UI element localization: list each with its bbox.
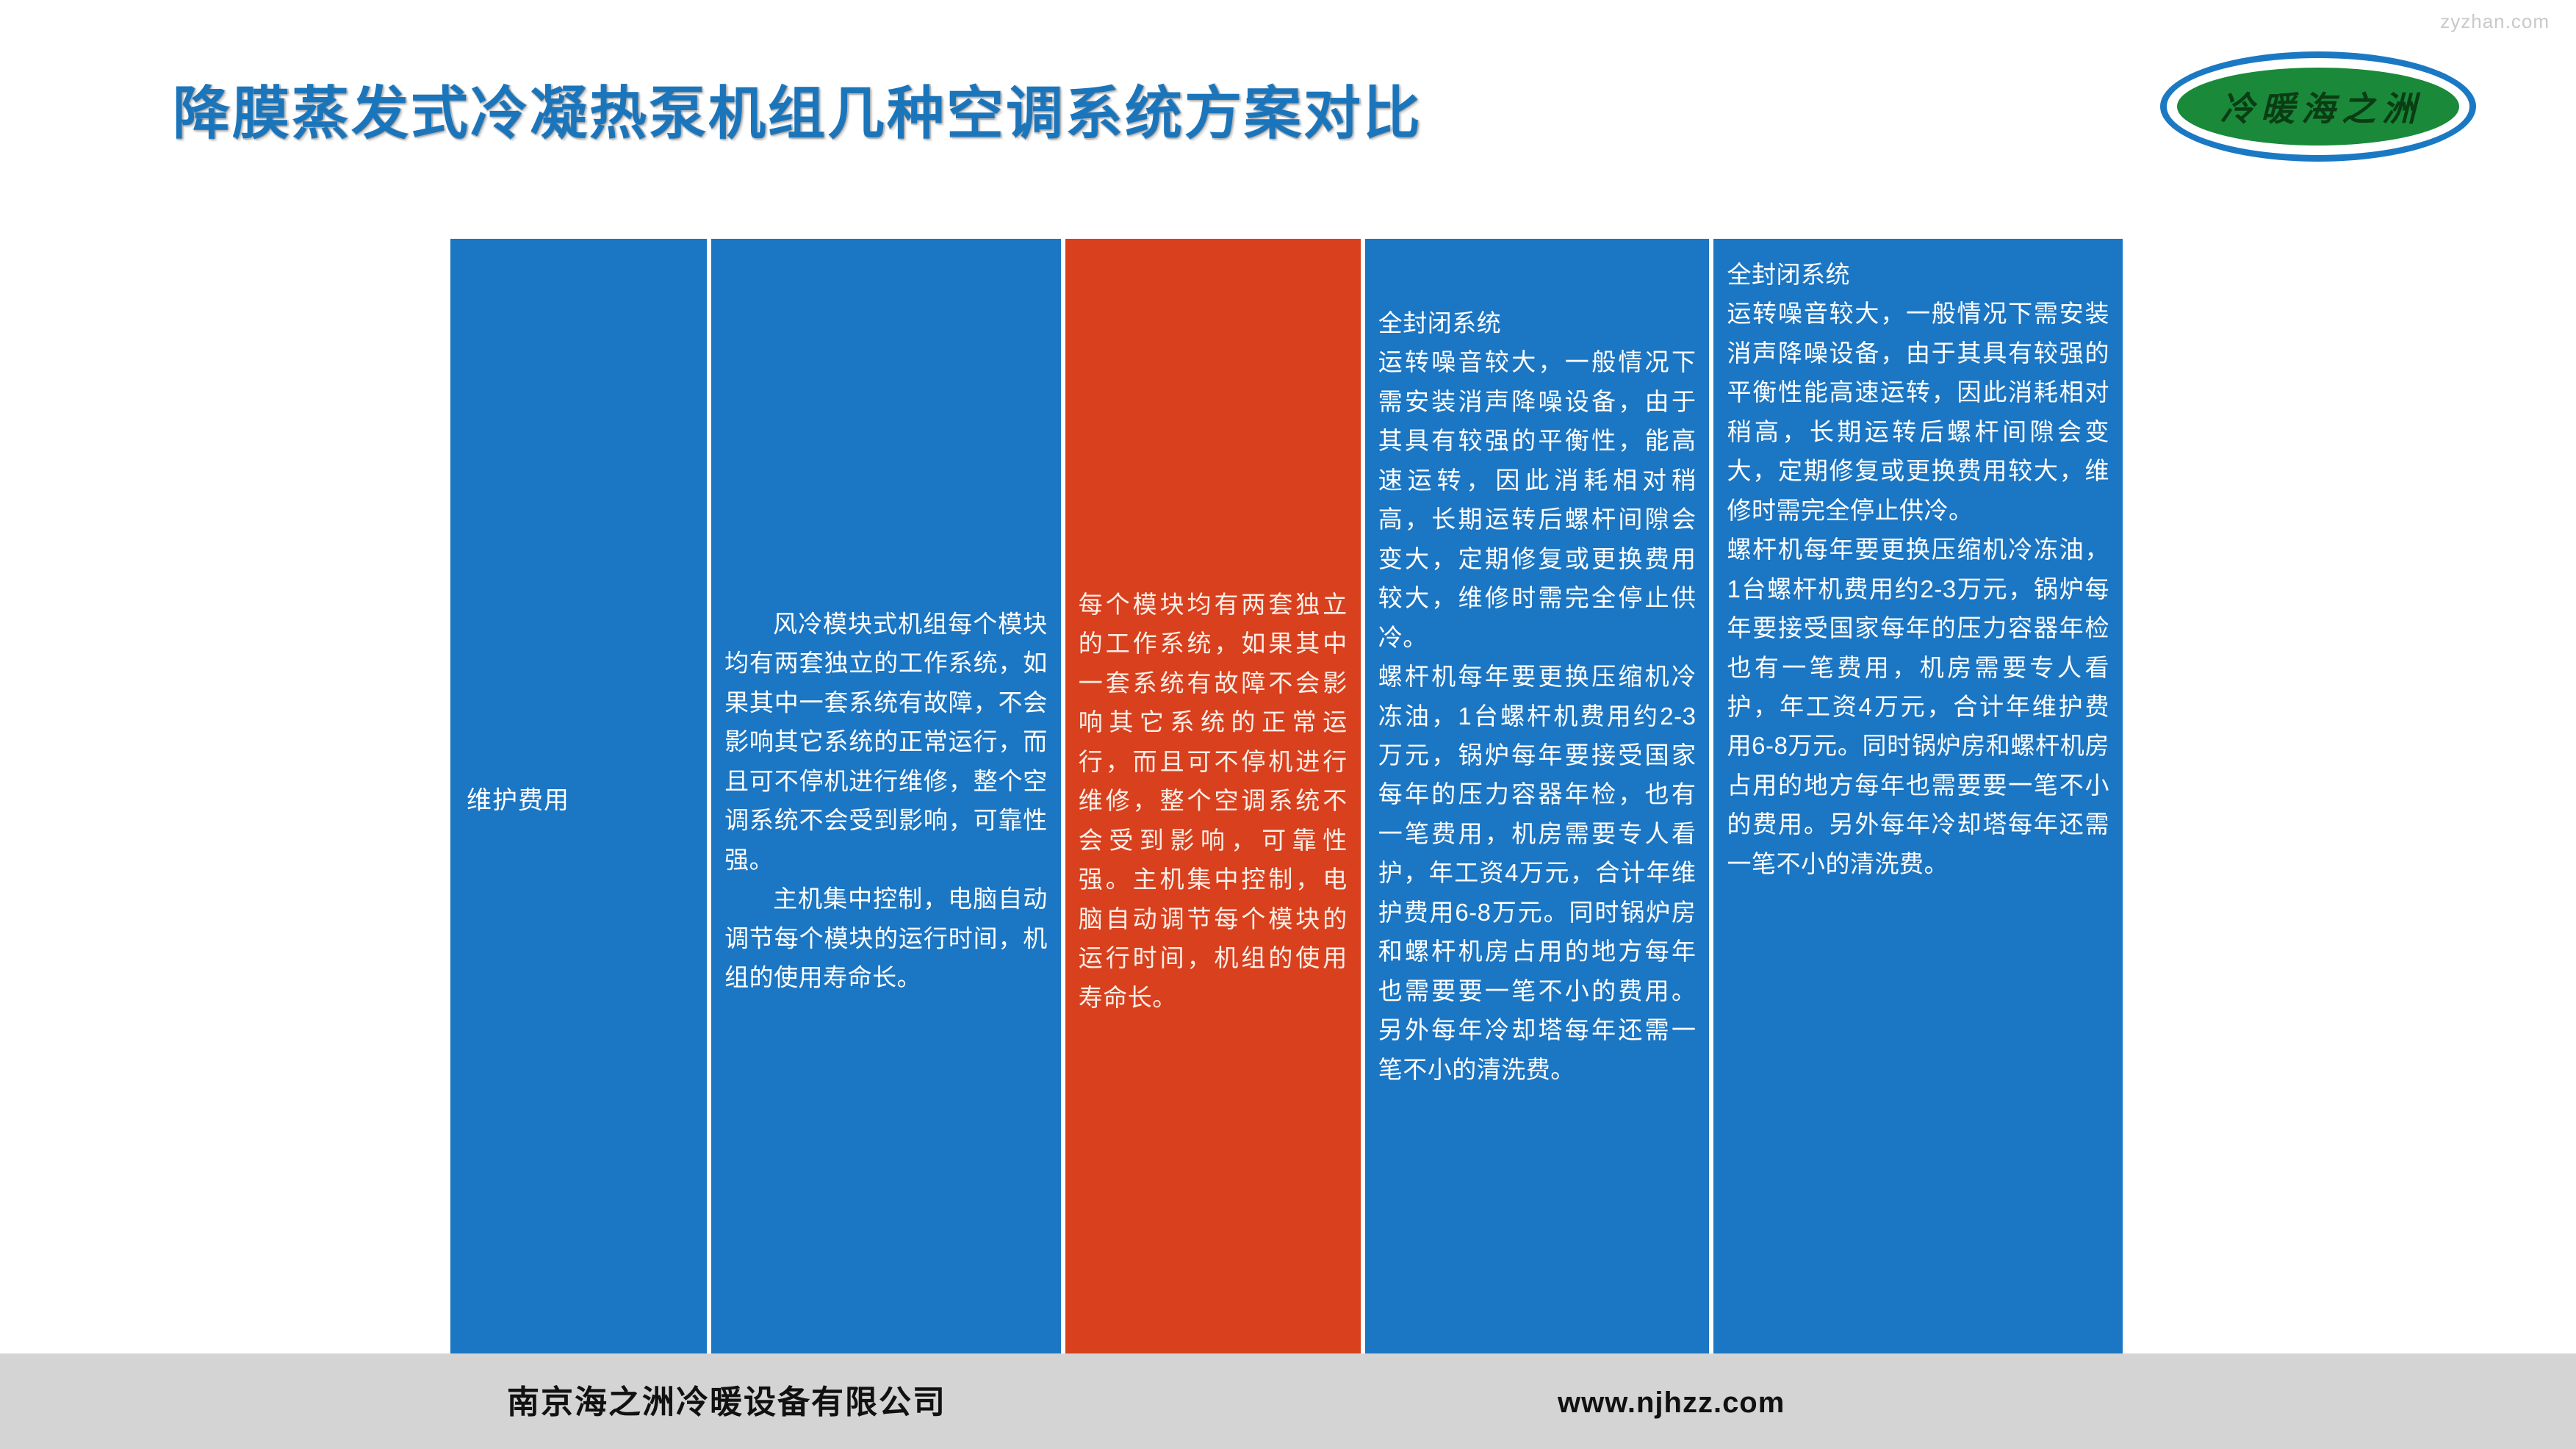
row-label-maintenance-cost: 维护费用 (450, 783, 707, 820)
footer-bar (0, 1353, 2576, 1449)
footer-website-url: www.njhzz.com (1558, 1387, 1785, 1420)
paragraph: 风冷模块式机组每个模块均有两套独立的工作系统，如果其中一套系统有故障，不会影响其… (724, 605, 1048, 880)
table-column-screw-chiller-boiler: 全封闭系统 运转噪音较大，一般情况下需安装消声降噪设备，由于其具有较强的平衡性，… (1365, 239, 1710, 1363)
paragraph: 主机集中控制，电脑自动调节每个模块的运行时间，机组的使用寿命长。 (724, 880, 1048, 997)
paragraph: 运转噪音较大，一般情况下需安装消声降噪设备，由于其具有较强的平衡性能高速运转，因… (1727, 294, 2109, 530)
cell-screw-chiller-boiler-alt: 全封闭系统 运转噪音较大，一般情况下需安装消声降噪设备，由于其具有较强的平衡性能… (1713, 255, 2123, 883)
table-column-row-header: 维护费用 (450, 239, 707, 1363)
paragraph-heading: 全封闭系统 (1378, 303, 1697, 342)
company-logo: 冷暖海之洲 (2160, 51, 2476, 162)
paragraph: 螺杆机每年要更换压缩机冷冻油，1台螺杆机费用约2-3万元，锅炉每年要接受国家每年… (1727, 530, 2109, 883)
cell-falling-film-module: 每个模块均有两套独立的工作系统，如果其中一套系统有故障不会影响其它系统的正常运行… (1065, 585, 1361, 1017)
table-column-falling-film-module: 每个模块均有两套独立的工作系统，如果其中一套系统有故障不会影响其它系统的正常运行… (1065, 239, 1361, 1363)
table-column-screw-chiller-boiler-alt: 全封闭系统 运转噪音较大，一般情况下需安装消声降噪设备，由于其具有较强的平衡性能… (1713, 239, 2123, 1363)
footer-company-name: 南京海之洲冷暖设备有限公司 (507, 1376, 946, 1423)
comparison-table: 维护费用 风冷模块式机组每个模块均有两套独立的工作系统，如果其中一套系统有故障，… (450, 239, 2123, 1363)
paragraph: 每个模块均有两套独立的工作系统，如果其中一套系统有故障不会影响其它系统的正常运行… (1079, 585, 1348, 1017)
logo-label: 冷暖海之洲 (2160, 51, 2476, 162)
table-column-air-cooled-module: 风冷模块式机组每个模块均有两套独立的工作系统，如果其中一套系统有故障，不会影响其… (711, 239, 1061, 1363)
cell-air-cooled-module: 风冷模块式机组每个模块均有两套独立的工作系统，如果其中一套系统有故障，不会影响其… (711, 605, 1061, 998)
cell-screw-chiller-boiler: 全封闭系统 运转噪音较大，一般情况下需安装消声降噪设备，由于其具有较强的平衡性，… (1365, 303, 1710, 1089)
watermark-text: zyzhan.com (2440, 10, 2550, 33)
paragraph: 运转噪音较大，一般情况下需安装消声降噪设备，由于其具有较强的平衡性，能高速运转，… (1378, 342, 1697, 657)
paragraph-heading: 全封闭系统 (1727, 255, 2109, 294)
page-title: 降膜蒸发式冷凝热泵机组几种空调系统方案对比 (173, 68, 1422, 150)
paragraph: 螺杆机每年要更换压缩机冷冻油，1台螺杆机费用约2-3万元，锅炉每年要接受国家每年… (1378, 657, 1697, 1089)
slide-canvas: zyzhan.com 降膜蒸发式冷凝热泵机组几种空调系统方案对比 冷暖海之洲 维… (0, 0, 2576, 1449)
